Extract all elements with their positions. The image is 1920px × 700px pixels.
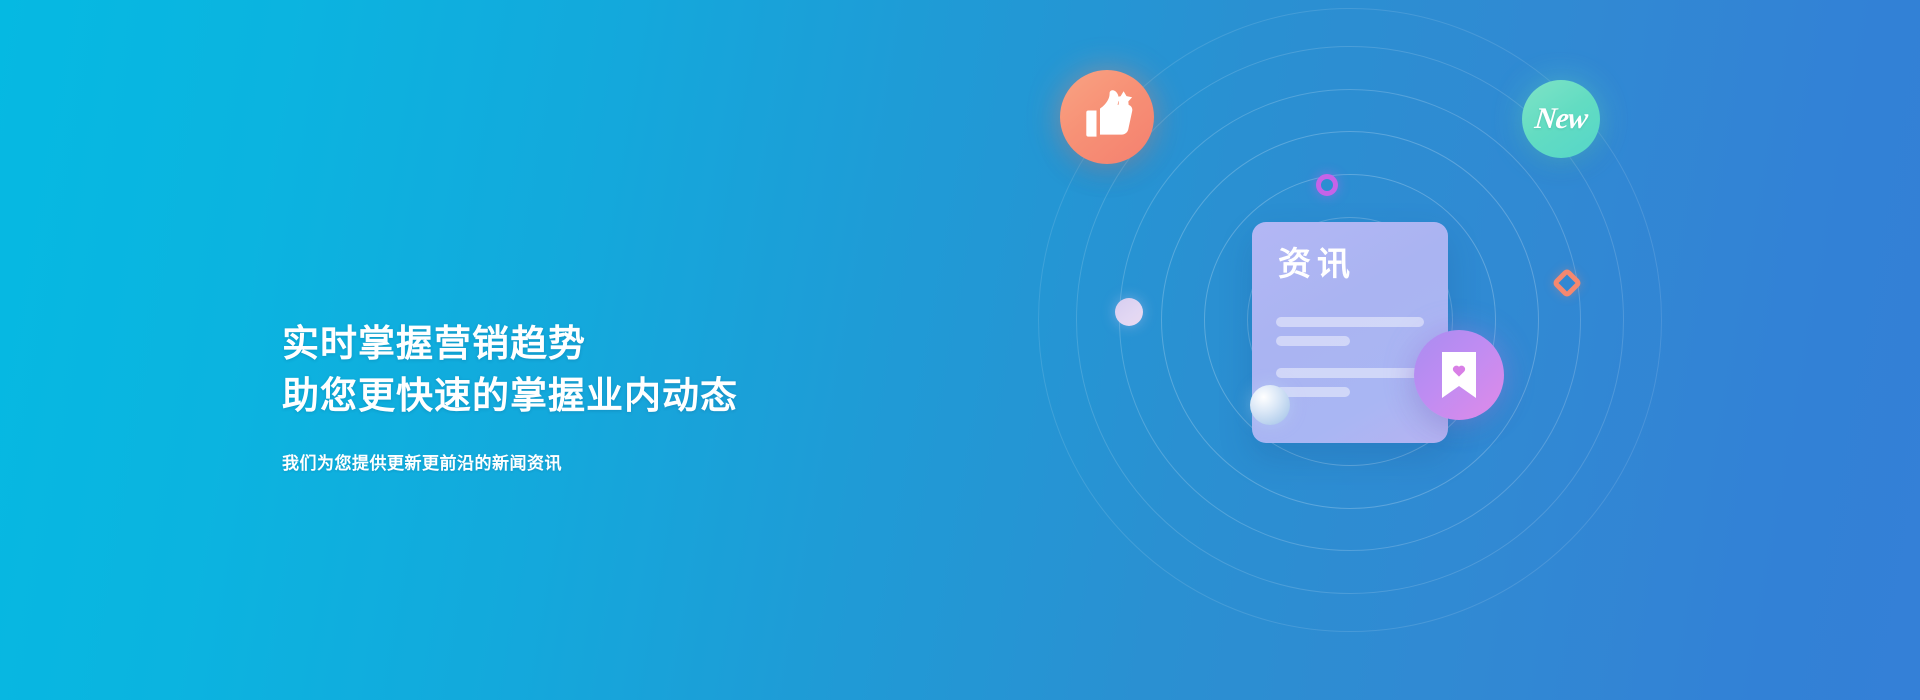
bookmark-heart-icon xyxy=(1439,352,1479,398)
news-card-line xyxy=(1276,336,1350,346)
violet-ring-decoration xyxy=(1316,174,1338,196)
news-card-placeholder-lines xyxy=(1276,317,1424,397)
hero-illustration: 资讯 New xyxy=(1040,10,1660,630)
hero-subheadline: 我们为您提供更新更前沿的新闻资讯 xyxy=(282,452,902,476)
sphere-dot-decoration xyxy=(1250,385,1290,425)
new-badge: New xyxy=(1522,80,1600,158)
hero-copy-block: 实时掌握营销趋势 助您更快速的掌握业内动态 我们为您提供更新更前沿的新闻资讯 xyxy=(282,318,902,476)
news-card-line xyxy=(1276,368,1424,378)
marketing-hero-banner: 实时掌握营销趋势 助您更快速的掌握业内动态 我们为您提供更新更前沿的新闻资讯 资… xyxy=(0,0,1920,700)
lavender-dot-decoration xyxy=(1115,298,1143,326)
news-card-line xyxy=(1276,317,1424,327)
bookmark-badge xyxy=(1414,330,1504,420)
thumbs-up-star-icon xyxy=(1060,70,1154,164)
new-badge-label: New xyxy=(1533,102,1589,136)
hero-headline-line-1: 实时掌握营销趋势 xyxy=(282,318,902,370)
like-badge xyxy=(1060,70,1154,164)
hero-headline-line-2: 助您更快速的掌握业内动态 xyxy=(282,370,902,422)
news-card-title: 资讯 xyxy=(1278,247,1356,280)
